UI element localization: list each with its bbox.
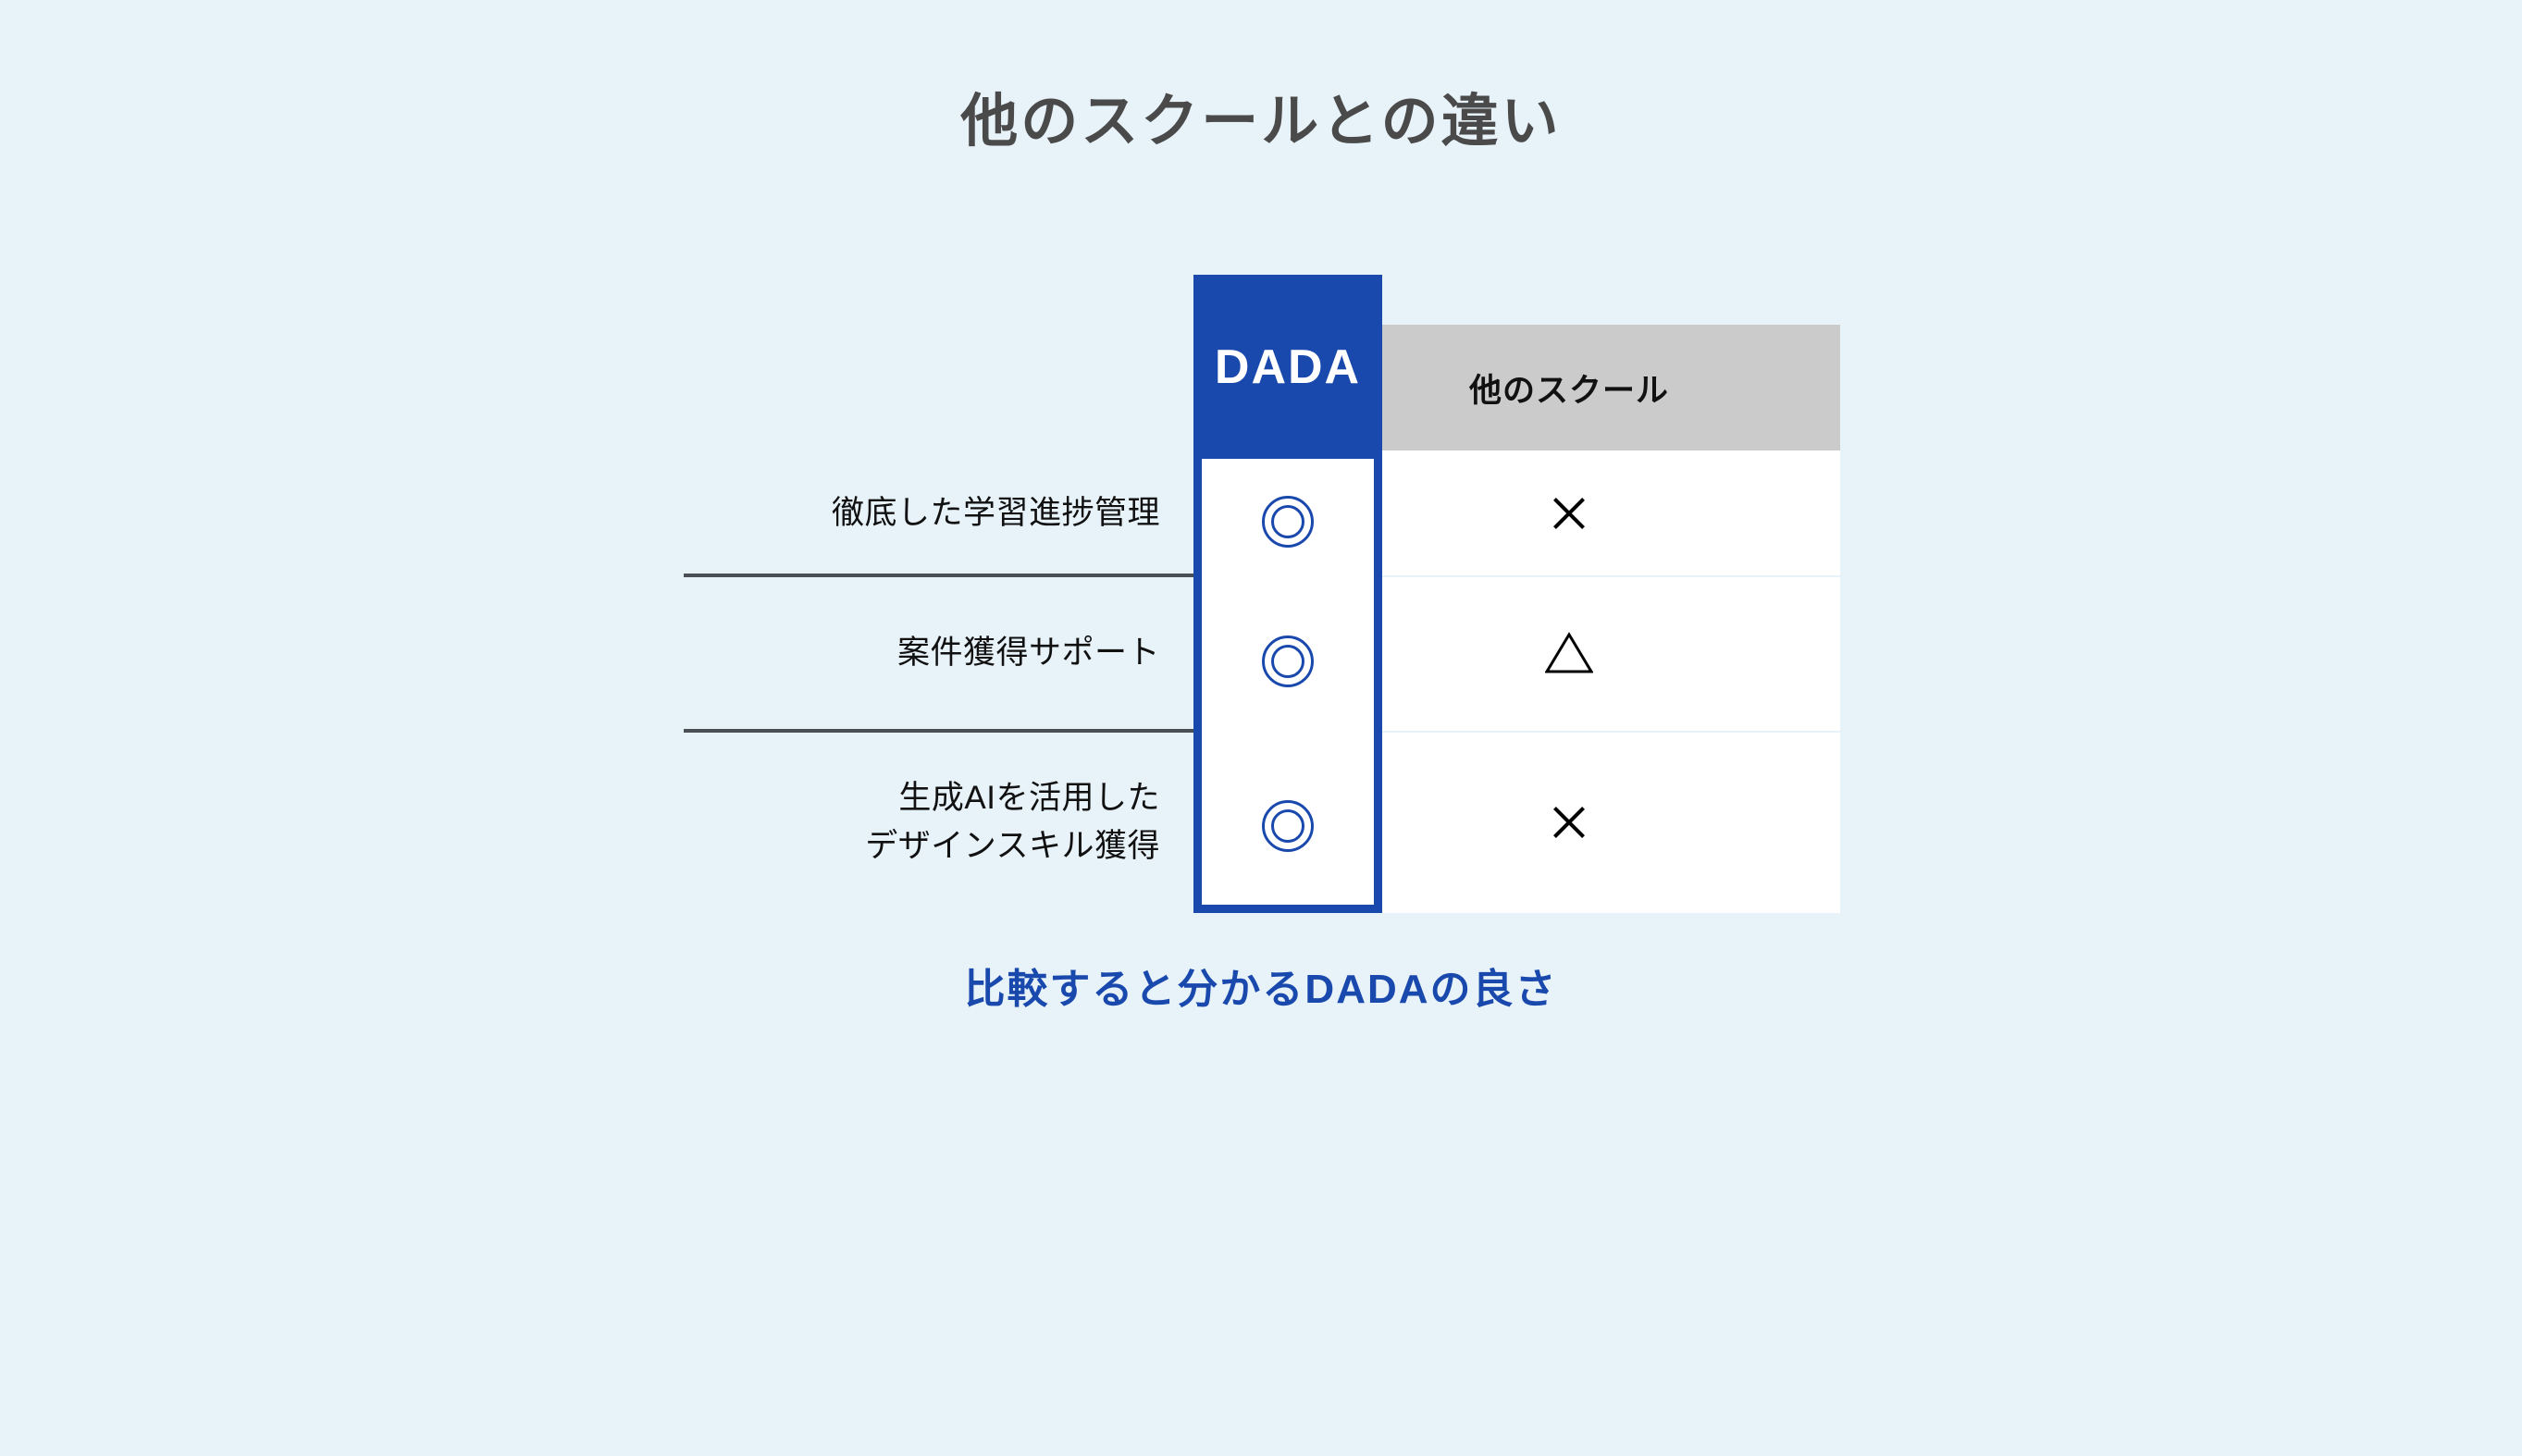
row-label-line: デザインスキル獲得 xyxy=(865,822,1160,870)
double-circle-mark-icon xyxy=(1262,496,1314,548)
double-circle-mark-icon xyxy=(1262,635,1314,687)
dada-cell xyxy=(1193,459,1382,584)
row-label-cell: 徹底した学習進捗管理 xyxy=(684,450,1193,575)
comparison-caption: 比較すると分かるDADAの良さ xyxy=(0,956,2522,1015)
dada-column-header: DADA xyxy=(1193,275,1382,459)
page-title: 他のスクールとの違い xyxy=(0,88,2522,156)
dada-cell xyxy=(1193,739,1382,913)
row-label-line: 生成AIを活用した xyxy=(865,774,1160,822)
row-label-line: 徹底した学習進捗管理 xyxy=(832,489,1160,537)
row-label-cell: 案件獲得サポート xyxy=(684,575,1193,731)
row-label-line: 案件獲得サポート xyxy=(897,629,1160,677)
dada-cell xyxy=(1193,584,1382,739)
comparison-table: 徹底した学習進捗管理 案件獲得サポート 生成AIを活用した デザインスキル獲得 … xyxy=(684,275,1840,913)
dada-column: DADA xyxy=(1193,275,1382,913)
row-label-cell: 生成AIを活用した デザインスキル獲得 xyxy=(684,731,1193,913)
triangle-mark-icon xyxy=(1545,632,1593,674)
row-label-column: 徹底した学習進捗管理 案件獲得サポート 生成AIを活用した デザインスキル獲得 xyxy=(684,275,1193,913)
cross-mark-icon xyxy=(1549,493,1589,534)
double-circle-mark-icon xyxy=(1262,800,1314,852)
cross-mark-icon xyxy=(1549,802,1589,843)
